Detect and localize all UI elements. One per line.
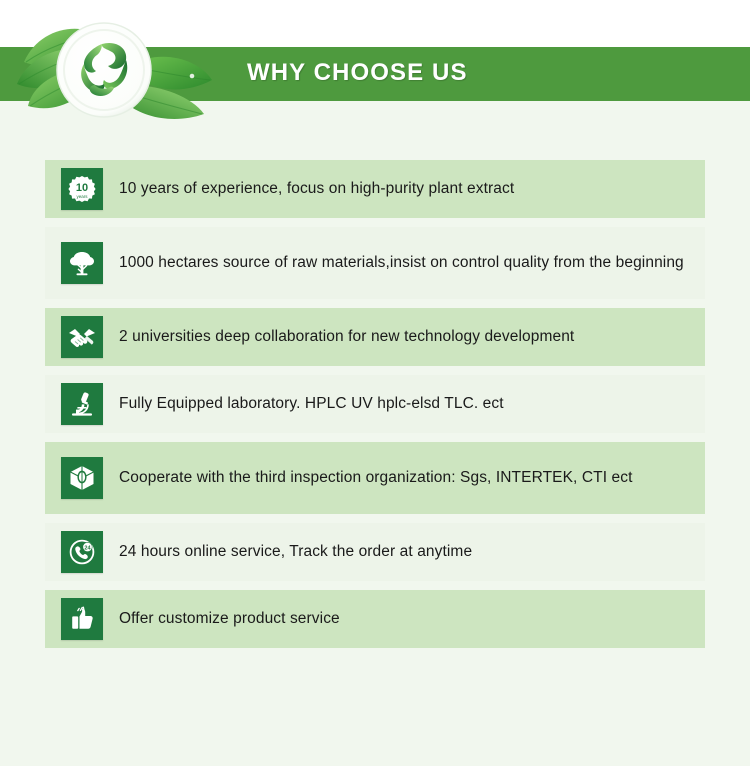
ten-years-badge-icon: 10 years — [61, 168, 103, 210]
leaf-recycle-logo — [12, 14, 222, 129]
list-item-label: 2 universities deep collaboration for ne… — [119, 326, 574, 348]
list-item: 2 universities deep collaboration for ne… — [45, 308, 705, 366]
svg-text:years: years — [76, 194, 88, 199]
list-item-label: Fully Equipped laboratory. HPLC UV hplc-… — [119, 393, 504, 415]
list-item: Offer customize product service — [45, 590, 705, 648]
svg-text:10: 10 — [76, 182, 88, 194]
tree-icon — [61, 242, 103, 284]
page-title: WHY CHOOSE US — [247, 59, 468, 87]
list-item-label: Cooperate with the third inspection orga… — [119, 467, 633, 489]
list-item-label: 10 years of experience, focus on high-pu… — [119, 178, 514, 200]
svg-text:24: 24 — [84, 545, 91, 551]
list-item-label: 1000 hectares source of raw materials,in… — [119, 252, 684, 274]
list-item-label: 24 hours online service, Track the order… — [119, 541, 472, 563]
list-item-label: Offer customize product service — [119, 608, 340, 630]
features-list: 10 years 10 years of experience, focus o… — [45, 160, 705, 657]
list-item: 10 years 10 years of experience, focus o… — [45, 160, 705, 218]
list-item: 24 24 hours online service, Track the or… — [45, 523, 705, 581]
list-item: Cooperate with the third inspection orga… — [45, 442, 705, 514]
why-choose-us-panel: WHY CHOOSE US — [0, 0, 750, 766]
cube-box-icon — [61, 457, 103, 499]
list-item: 1000 hectares source of raw materials,in… — [45, 227, 705, 299]
thumbs-up-icon — [61, 598, 103, 640]
microscope-icon — [61, 383, 103, 425]
list-item: Fully Equipped laboratory. HPLC UV hplc-… — [45, 375, 705, 433]
handshake-icon — [61, 316, 103, 358]
24-hour-phone-icon: 24 — [61, 531, 103, 573]
